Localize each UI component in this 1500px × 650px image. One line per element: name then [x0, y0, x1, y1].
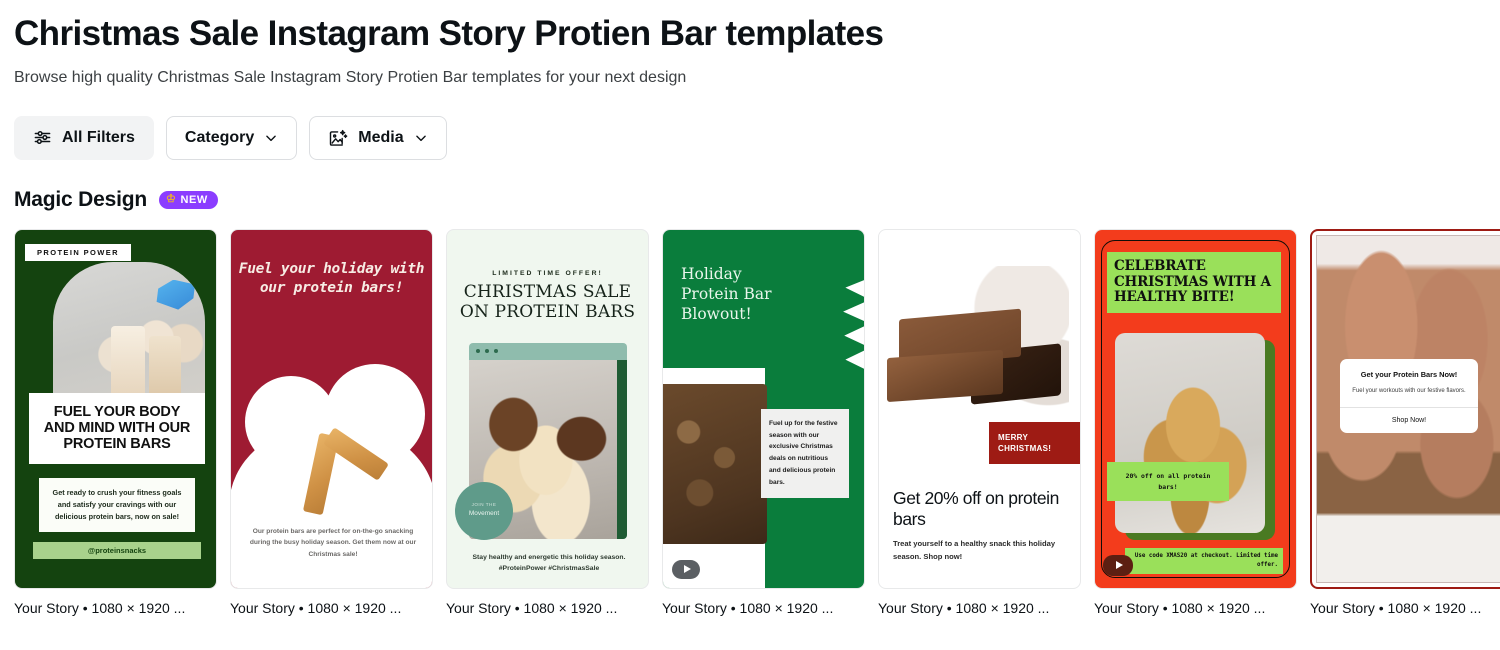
all-filters-label: All Filters — [62, 129, 135, 147]
status-badge: ♔ NEW — [159, 191, 218, 209]
all-filters-button[interactable]: All Filters — [14, 116, 154, 160]
accent-stripe — [617, 360, 627, 539]
card-title: CHRISTMAS SALE ON PROTEIN BARS — [447, 282, 648, 322]
template-card[interactable]: LIMITED TIME OFFER! CHRISTMAS SALE ON PR… — [446, 229, 649, 616]
popup-subtitle: Fuel your workouts with our festive flav… — [1340, 379, 1478, 407]
template-card[interactable]: PROTEIN POWER FUEL YOUR BODY AND MIND WI… — [14, 229, 217, 616]
protein-bar-shape — [887, 350, 1003, 402]
template-card[interactable]: Holiday Protein Bar Blowout! Fuel up for… — [662, 229, 865, 616]
card-caption: Your Story • 1080 × 1920 ... — [662, 600, 865, 616]
category-label: Category — [185, 129, 254, 147]
protein-bar-shapes — [301, 430, 381, 516]
section-header: Magic Design ♔ NEW — [14, 188, 1486, 212]
card-caption: Your Story • 1080 × 1920 ... — [14, 600, 217, 616]
card-thumbnail-holiday-blowout[interactable]: Holiday Protein Bar Blowout! Fuel up for… — [662, 229, 865, 589]
template-card[interactable]: Get your Protein Bars Now! Fuel your wor… — [1310, 229, 1500, 616]
card-thumbnail-christmas-sale[interactable]: LIMITED TIME OFFER! CHRISTMAS SALE ON PR… — [446, 229, 649, 589]
page-subtitle: Browse high quality Christmas Sale Insta… — [14, 67, 1486, 89]
popup-action-button[interactable]: Shop Now! — [1340, 407, 1478, 433]
card-offer: 20% off on all protein bars! — [1107, 462, 1229, 502]
crown-icon: ♔ — [166, 194, 176, 205]
card-circle-badge: JOIN THE Movement — [455, 482, 513, 540]
new-badge-label: NEW — [180, 194, 207, 206]
card-headline: FUEL YOUR BODY AND MIND WITH OUR PROTEIN… — [29, 393, 205, 465]
card-headline: CELEBRATE CHRISTMAS WITH A HEALTHY BITE! — [1107, 252, 1281, 314]
window-dots-icon — [476, 349, 498, 353]
card-thumbnail-fuel-your-holiday[interactable]: Fuel your holiday with our protein bars!… — [230, 229, 433, 589]
card-thumbnail-shop-now[interactable]: Get your Protein Bars Now! Fuel your wor… — [1310, 229, 1500, 589]
templates-page: Christmas Sale Instagram Story Protien B… — [0, 0, 1500, 616]
card-popup: Get your Protein Bars Now! Fuel your wor… — [1340, 359, 1478, 433]
card-photo — [53, 262, 205, 402]
sliders-icon — [33, 128, 52, 147]
image-sparkle-icon — [328, 128, 348, 148]
play-icon[interactable] — [1103, 555, 1133, 576]
card-thumbnail-get-20-off[interactable]: MERRY CHRISTMAS! Get 20% off on protein … — [878, 229, 1081, 589]
card-handle: @proteinsnacks — [33, 542, 201, 559]
card-code-note: Use code XMAS20 at checkout. Limited tim… — [1125, 548, 1283, 575]
section-title: Magic Design — [14, 188, 147, 212]
media-label: Media — [358, 129, 403, 147]
popup-title: Get your Protein Bars Now! — [1340, 359, 1478, 379]
card-body: Get ready to crush your fitness goals an… — [39, 478, 195, 532]
badge-kicker: JOIN THE — [472, 502, 497, 509]
chevron-down-icon — [264, 131, 278, 145]
media-filter-button[interactable]: Media — [309, 116, 446, 160]
card-kicker: LIMITED TIME OFFER! — [447, 270, 648, 277]
card-callout: Fuel up for the festive season with our … — [761, 409, 849, 498]
card-photo — [1115, 333, 1265, 533]
card-caption: Your Story • 1080 × 1920 ... — [878, 600, 1081, 616]
badge-label: Movement — [469, 509, 499, 519]
card-caption: Your Story • 1080 × 1920 ... — [1094, 600, 1297, 616]
filter-bar: All Filters Category Media — [14, 116, 1486, 160]
card-body: Treat yourself to a healthy snack this h… — [893, 537, 1065, 564]
card-footer: Stay healthy and energetic this holiday … — [459, 552, 639, 575]
card-subtext: Our protein bars are perfect for on-the-… — [249, 526, 417, 561]
card-thumbnail-protein-power[interactable]: PROTEIN POWER FUEL YOUR BODY AND MIND WI… — [14, 229, 217, 589]
card-title: Holiday Protein Bar Blowout! — [681, 264, 801, 324]
card-thumbnail-celebrate-christmas[interactable]: CELEBRATE CHRISTMAS WITH A HEALTHY BITE!… — [1094, 229, 1297, 589]
card-badge: MERRY CHRISTMAS! — [989, 422, 1081, 464]
template-grid: PROTEIN POWER FUEL YOUR BODY AND MIND WI… — [14, 229, 1486, 616]
page-title: Christmas Sale Instagram Story Protien B… — [14, 14, 1486, 54]
card-caption: Your Story • 1080 × 1920 ... — [446, 600, 649, 616]
card-tag: PROTEIN POWER — [25, 244, 131, 261]
play-icon[interactable] — [672, 560, 700, 579]
card-title: Fuel your holiday with our protein bars! — [231, 260, 432, 299]
card-caption: Your Story • 1080 × 1920 ... — [1310, 600, 1500, 616]
template-card[interactable]: MERRY CHRISTMAS! Get 20% off on protein … — [878, 229, 1081, 616]
template-card[interactable]: Fuel your holiday with our protein bars!… — [230, 229, 433, 616]
card-photo — [663, 368, 765, 589]
glass-shape — [111, 326, 145, 402]
category-filter-button[interactable]: Category — [166, 116, 297, 160]
card-headline: Get 20% off on protein bars — [893, 488, 1068, 531]
card-caption: Your Story • 1080 × 1920 ... — [230, 600, 433, 616]
chevron-down-icon — [414, 131, 428, 145]
template-card[interactable]: CELEBRATE CHRISTMAS WITH A HEALTHY BITE!… — [1094, 229, 1297, 616]
star-burst-shape — [814, 278, 865, 378]
shaker-shape — [155, 280, 195, 310]
